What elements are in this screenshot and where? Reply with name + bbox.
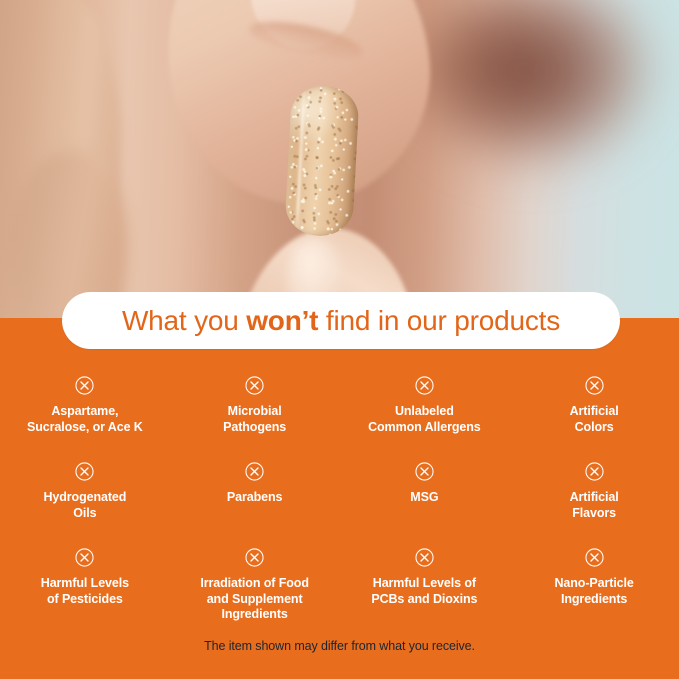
- circle-x-icon: [245, 548, 264, 567]
- grid-item-label: Artificial Flavors: [570, 490, 619, 521]
- grid-item: Harmful Levels of PCBs and Dioxins: [340, 540, 510, 640]
- grid-item-label: Parabens: [227, 490, 282, 506]
- circle-x-icon: [245, 462, 264, 481]
- grid-item-label: Artificial Colors: [570, 404, 619, 435]
- circle-x-icon: [415, 376, 434, 395]
- grid-item-label: Hydrogenated Oils: [43, 490, 126, 521]
- title-banner: What you won’t find in our products: [62, 292, 620, 349]
- grid-item: Harmful Levels of Pesticides: [0, 540, 170, 640]
- circle-x-icon: [585, 376, 604, 395]
- grid-item: Aspartame, Sucralose, or Ace K: [0, 368, 170, 454]
- disclaimer-note: The item shown may differ from what you …: [0, 639, 679, 653]
- grid-item-label: MSG: [410, 490, 438, 506]
- circle-x-icon: [415, 548, 434, 567]
- grid-item: Parabens: [170, 454, 340, 540]
- grid-item: Hydrogenated Oils: [0, 454, 170, 540]
- excluded-items-grid: Aspartame, Sucralose, or Ace K Microbial…: [0, 368, 679, 640]
- grid-item-label: Harmful Levels of PCBs and Dioxins: [371, 576, 477, 607]
- circle-x-icon: [415, 462, 434, 481]
- grid-item: Nano-Particle Ingredients: [509, 540, 679, 640]
- grid-item: Unlabeled Common Allergens: [340, 368, 510, 454]
- grid-item-label: Microbial Pathogens: [223, 404, 286, 435]
- circle-x-icon: [585, 548, 604, 567]
- grid-item-label: Unlabeled Common Allergens: [368, 404, 481, 435]
- grid-item-label: Aspartame, Sucralose, or Ace K: [27, 404, 143, 435]
- photo-tablet: [284, 84, 360, 237]
- grid-item: Artificial Colors: [509, 368, 679, 454]
- grid-item-label: Harmful Levels of Pesticides: [41, 576, 129, 607]
- grid-item-label: Irradiation of Food and Supplement Ingre…: [200, 576, 309, 623]
- circle-x-icon: [75, 376, 94, 395]
- grid-item-label: Nano-Particle Ingredients: [554, 576, 633, 607]
- grid-item: Artificial Flavors: [509, 454, 679, 540]
- product-photo: [0, 0, 679, 318]
- grid-item: MSG: [340, 454, 510, 540]
- page-title-part-1: What you: [122, 305, 246, 336]
- infographic-page: What you won’t find in our products Aspa…: [0, 0, 679, 679]
- page-title-emphasis: won’t: [246, 305, 318, 336]
- circle-x-icon: [245, 376, 264, 395]
- circle-x-icon: [75, 548, 94, 567]
- circle-x-icon: [75, 462, 94, 481]
- circle-x-icon: [585, 462, 604, 481]
- grid-item: Microbial Pathogens: [170, 368, 340, 454]
- page-title-part-2: find in our products: [318, 305, 560, 336]
- page-title: What you won’t find in our products: [122, 307, 560, 335]
- grid-item: Irradiation of Food and Supplement Ingre…: [170, 540, 340, 640]
